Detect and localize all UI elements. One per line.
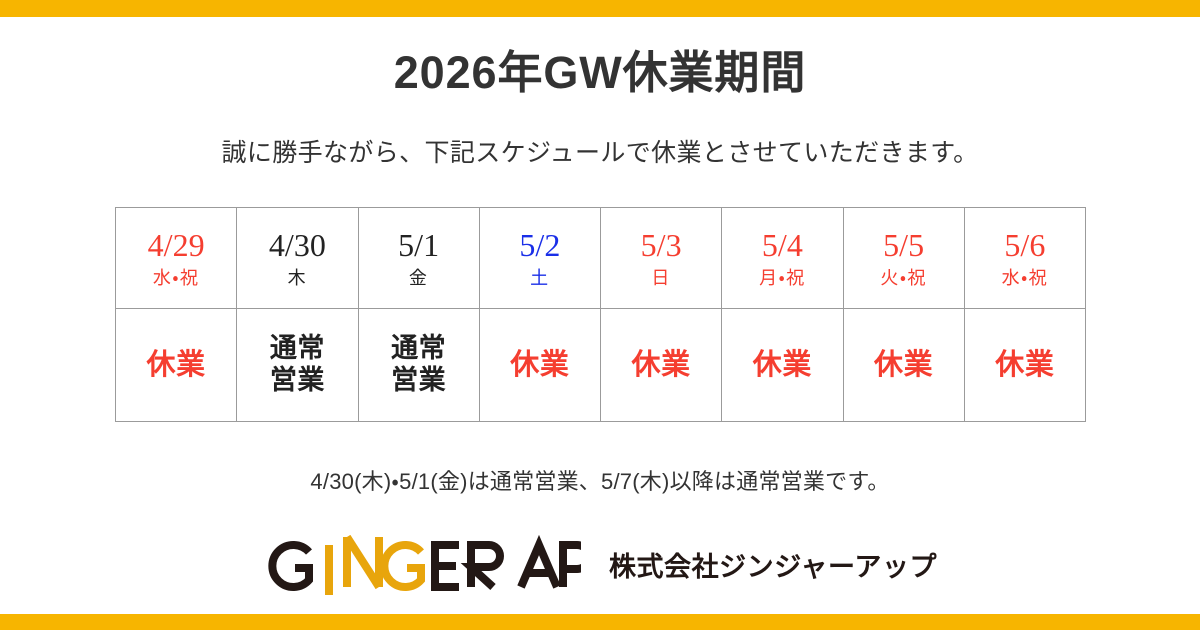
status-badge: 休業	[965, 348, 1085, 382]
ginger-app-logo	[263, 535, 581, 597]
status-badge: 通常	[237, 333, 357, 365]
status-badge: 休業	[601, 348, 721, 382]
status-cell: 休業	[601, 309, 722, 422]
day-of-week: 水・祝	[116, 268, 236, 290]
date-cell: 5/5火・祝	[843, 208, 964, 309]
status-cell: 休業	[479, 309, 600, 422]
date-cell: 4/30木	[237, 208, 358, 309]
day-of-week: 土	[480, 268, 600, 290]
footer-branding: 株式会社ジンジャーアップ	[0, 535, 1200, 597]
date-cell: 5/6水・祝	[964, 208, 1085, 309]
notice-content: 2026年GW休業期間 誠に勝手ながら、下記スケジュールで休業とさせていただきま…	[0, 17, 1200, 630]
status-cell: 通常営業	[237, 309, 358, 422]
day-of-week: 水・祝	[965, 268, 1085, 290]
date-value: 5/6	[965, 227, 1085, 264]
date-cell: 5/1金	[358, 208, 479, 309]
status-cell: 通常営業	[358, 309, 479, 422]
day-of-week: 月・祝	[722, 268, 842, 290]
day-of-week: 金	[359, 268, 479, 290]
status-badge: 休業	[844, 348, 964, 382]
status-badge: 営業	[359, 365, 479, 397]
date-value: 5/4	[722, 227, 842, 264]
status-badge: 休業	[722, 348, 842, 382]
page-subtitle: 誠に勝手ながら、下記スケジュールで休業とさせていただきます。	[0, 137, 1200, 170]
date-value: 5/2	[480, 227, 600, 264]
date-cell: 5/4月・祝	[722, 208, 843, 309]
company-name: 株式会社ジンジャーアップ	[609, 554, 937, 581]
date-cell: 5/2土	[479, 208, 600, 309]
status-badge: 通常	[359, 333, 479, 365]
status-cell: 休業	[116, 309, 237, 422]
date-cell: 4/29水・祝	[116, 208, 237, 309]
status-badge: 休業	[116, 348, 236, 382]
holiday-schedule-table: 4/29水・祝4/30木5/1金5/2土5/3日5/4月・祝5/5火・祝5/6水…	[115, 207, 1086, 422]
status-cell: 休業	[964, 309, 1085, 422]
date-value: 5/5	[844, 227, 964, 264]
date-cell: 5/3日	[601, 208, 722, 309]
table-row-dates: 4/29水・祝4/30木5/1金5/2土5/3日5/4月・祝5/5火・祝5/6水…	[116, 208, 1086, 309]
day-of-week: 日	[601, 268, 721, 290]
date-value: 4/29	[116, 227, 236, 264]
status-cell: 休業	[843, 309, 964, 422]
status-badge: 営業	[237, 365, 357, 397]
date-value: 5/1	[359, 227, 479, 264]
date-value: 4/30	[237, 227, 357, 264]
table-row-status: 休業通常営業通常営業休業休業休業休業休業	[116, 309, 1086, 422]
top-accent-bar	[0, 0, 1200, 17]
notice-page: 2026年GW休業期間 誠に勝手ながら、下記スケジュールで休業とさせていただきま…	[0, 0, 1200, 630]
status-badge: 休業	[480, 348, 600, 382]
date-value: 5/3	[601, 227, 721, 264]
day-of-week: 火・祝	[844, 268, 964, 290]
schedule-note: 4/30(木)・5/1(金)は通常営業、5/7(木)以降は通常営業です。	[0, 464, 1200, 496]
page-title: 2026年GW休業期間	[0, 46, 1200, 100]
bottom-accent-bar	[0, 614, 1200, 630]
day-of-week: 木	[237, 268, 357, 290]
status-cell: 休業	[722, 309, 843, 422]
